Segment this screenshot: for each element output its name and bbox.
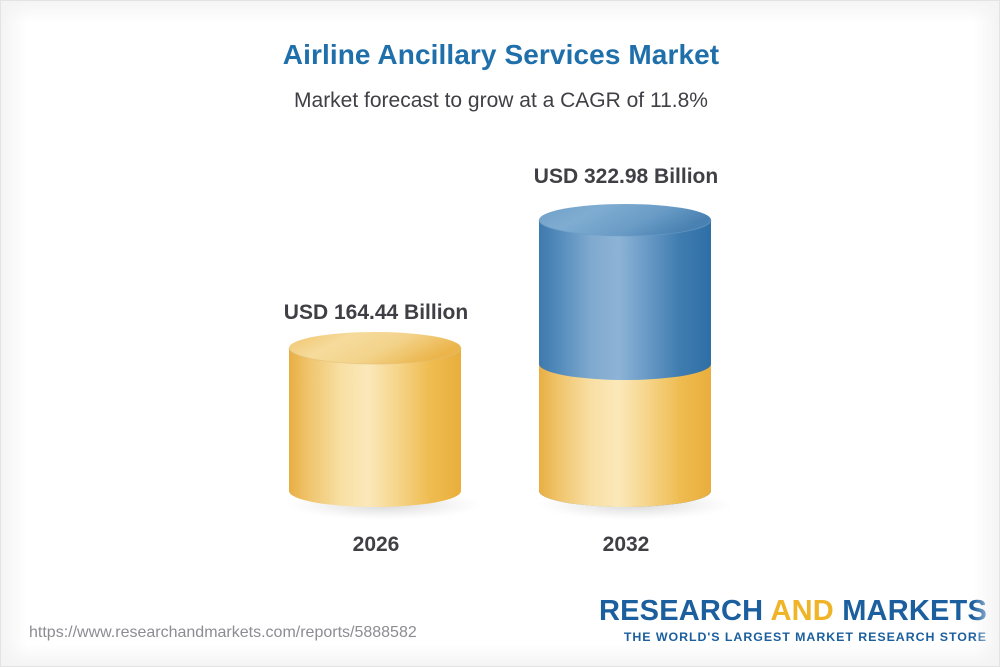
bar-group-2032: USD 322.98 Billion [1, 1, 1000, 601]
brand-tagline: THE WORLD'S LARGEST MARKET RESEARCH STOR… [599, 630, 987, 644]
bar-value-label-2032: USD 322.98 Billion [456, 165, 796, 189]
brand-word-and: AND [771, 595, 843, 627]
bar-body-lower-2032 [539, 364, 711, 513]
brand-word-markets: MARKETS [842, 595, 987, 627]
report-url[interactable]: https://www.researchandmarkets.com/repor… [29, 624, 417, 642]
plot-area: USD 164.44 Billion [1, 1, 1000, 601]
bar-cylinder-2032[interactable] [531, 203, 731, 525]
chart-canvas: Airline Ancillary Services Market Market… [0, 0, 1000, 667]
brand-logo[interactable]: RESEARCH AND MARKETS THE WORLD'S LARGEST… [599, 597, 987, 644]
brand-word-research: RESEARCH [599, 595, 771, 627]
brand-wordmark: RESEARCH AND MARKETS [599, 597, 987, 627]
bar-category-label-2032: 2032 [496, 533, 756, 557]
